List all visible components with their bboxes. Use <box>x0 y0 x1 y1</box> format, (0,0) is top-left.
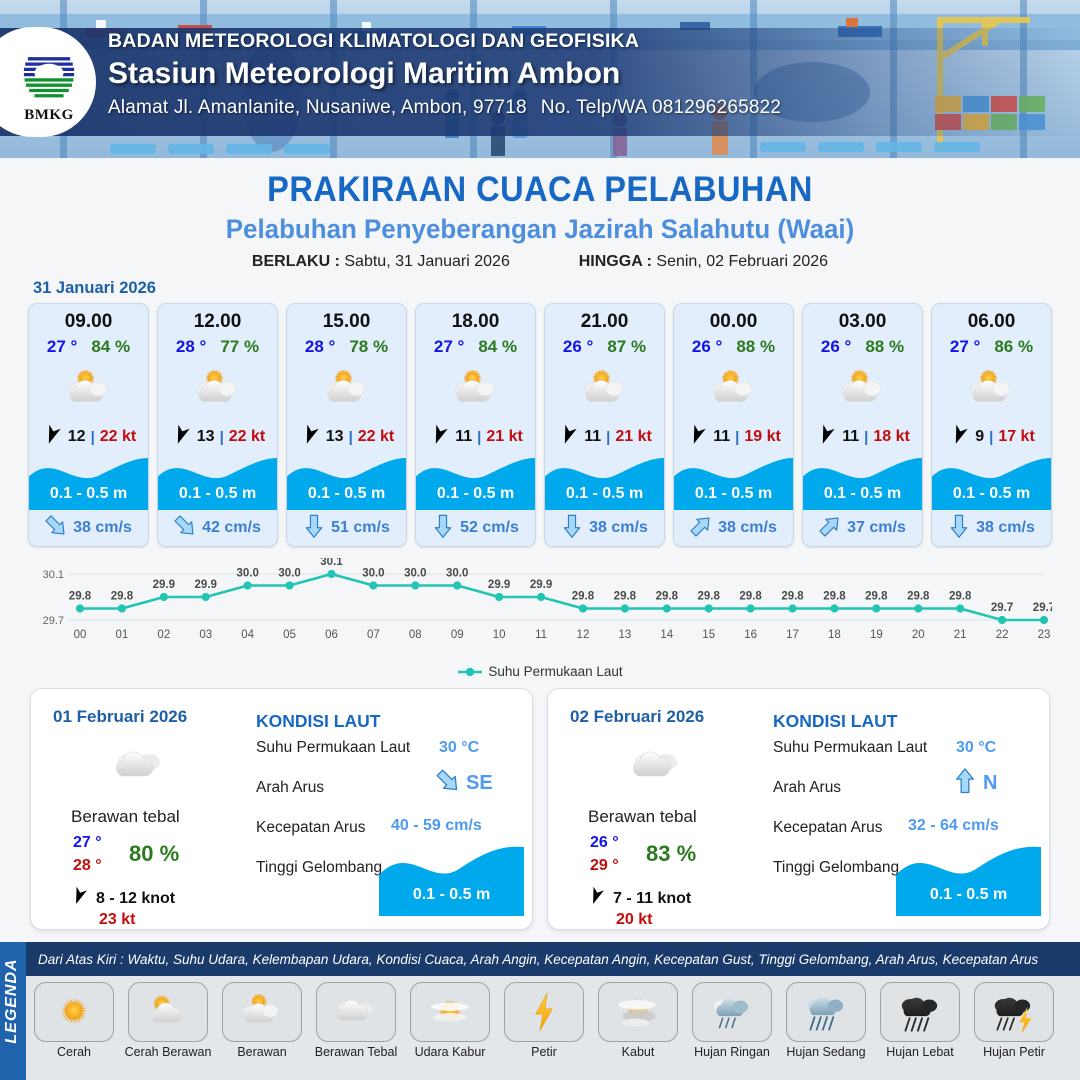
wind-gust: 19 kt <box>744 428 780 446</box>
forecast-temperature: 27 ° <box>434 337 464 357</box>
page-header: BMKG BADAN METEOROLOGI KLIMATOLOGI DAN G… <box>0 0 1080 158</box>
svg-text:30.1: 30.1 <box>320 558 343 568</box>
legend-item: Udara Kabur <box>406 982 494 1059</box>
daily-humidity: 83 % <box>646 841 696 867</box>
wave-height-value: 0.1 - 0.5 m <box>896 886 1041 904</box>
forecast-temperature: 27 ° <box>47 337 77 357</box>
weather-partly-cloudy-icon <box>287 359 406 421</box>
svg-text:19: 19 <box>870 629 883 641</box>
page-title: PRAKIRAAN CUACA PELABUHAN <box>38 170 1042 210</box>
weather-lightning-icon <box>504 982 584 1042</box>
sea-surface-temperature-value: 30 °C <box>439 739 479 757</box>
wind-gust: 22 kt <box>358 428 394 446</box>
weather-moderate-rain-icon <box>786 982 866 1042</box>
wave-height-block: 0.1 - 0.5 m <box>674 452 793 510</box>
svg-text:14: 14 <box>660 629 673 641</box>
current-direction-arrow-icon <box>436 767 460 800</box>
weather-partly-cloudy-icon <box>674 359 793 421</box>
current-direction-value: SE <box>466 772 493 795</box>
legend-item-label: Hujan Lebat <box>876 1045 964 1059</box>
wave-height-block: 0.1 - 0.5 m <box>287 452 406 510</box>
svg-text:13: 13 <box>618 629 631 641</box>
daily-date: 01 Februari 2026 <box>53 707 187 727</box>
svg-text:16: 16 <box>744 629 757 641</box>
forecast-time: 09.00 <box>29 304 148 333</box>
legend-item-label: Hujan Petir <box>970 1045 1058 1059</box>
svg-text:12: 12 <box>577 629 590 641</box>
svg-text:29.7: 29.7 <box>1033 602 1052 614</box>
legend-item: Berawan Tebal <box>312 982 400 1059</box>
forecast-humidity: 88 % <box>865 337 904 357</box>
wave-height-block: 0.1 - 0.5 m <box>29 452 148 510</box>
daily-humidity: 80 % <box>129 841 179 867</box>
svg-text:29.9: 29.9 <box>488 579 510 591</box>
forecast-temperature: 28 ° <box>305 337 335 357</box>
hourly-forecast-row: 09.00 27 ° 84 % <box>28 303 1052 547</box>
svg-text:30.1: 30.1 <box>43 569 64 581</box>
current-direction-arrow-icon <box>948 513 970 544</box>
legend-item: Hujan Sedang <box>782 982 870 1059</box>
legend-item: Cerah <box>30 982 118 1059</box>
svg-text:30.0: 30.0 <box>446 568 468 580</box>
daily-summary-row: 01 Februari 2026 Berawan tebal 27 ° 2 <box>30 688 1050 930</box>
forecast-humidity: 84 % <box>91 337 130 357</box>
weather-fog-icon <box>598 982 678 1042</box>
legend-caption: Dari Atas Kiri : Waktu, Suhu Udara, Kele… <box>26 942 1080 976</box>
forecast-time: 03.00 <box>803 304 922 333</box>
weather-partly-cloudy-icon <box>29 359 148 421</box>
svg-text:29.8: 29.8 <box>698 591 721 603</box>
svg-text:03: 03 <box>199 629 212 641</box>
svg-text:29.8: 29.8 <box>656 591 679 603</box>
svg-text:15: 15 <box>702 629 715 641</box>
forecast-humidity: 88 % <box>736 337 775 357</box>
wave-height: 0.1 - 0.5 m <box>674 485 793 503</box>
wind-direction-arrow-icon <box>815 424 837 451</box>
current-speed: 51 cm/s <box>331 519 390 537</box>
forecast-card: 18.00 27 ° 84 % <box>415 303 536 547</box>
legend-item: Cerah Berawan <box>124 982 212 1059</box>
wind-direction-arrow-icon <box>69 886 89 911</box>
wind-speed: 13 <box>326 428 344 446</box>
weather-partly-cloudy-icon <box>803 359 922 421</box>
wind-separator: | <box>606 429 610 446</box>
svg-text:00: 00 <box>74 629 87 641</box>
legend-item-label: Hujan Ringan <box>688 1045 776 1059</box>
chart-legend: Suhu Permukaan Laut <box>0 664 1080 679</box>
wave-height: 0.1 - 0.5 m <box>287 485 406 503</box>
svg-text:17: 17 <box>786 629 799 641</box>
current-direction-arrow-icon <box>953 767 977 800</box>
station-name: Stasiun Meteorologi Maritim Ambon <box>108 57 781 91</box>
legend-item: Hujan Lebat <box>876 982 964 1059</box>
wave-height: 0.1 - 0.5 m <box>803 485 922 503</box>
station-phone: No. Telp/WA 081296265822 <box>541 97 781 118</box>
current-direction-arrow-icon <box>819 513 841 544</box>
wind-speed: 13 <box>197 428 215 446</box>
wind-separator: | <box>91 429 95 446</box>
wind-speed: 11 <box>713 428 730 446</box>
svg-text:30.0: 30.0 <box>278 568 300 580</box>
weather-partly-cloudy-icon <box>932 359 1051 421</box>
svg-text:06: 06 <box>325 629 338 641</box>
daily-temp-min: 26 ° <box>590 834 619 852</box>
wind-gust: 17 kt <box>998 428 1034 446</box>
weather-sun-icon <box>34 982 114 1042</box>
sea-surface-temperature-value: 30 °C <box>956 739 996 757</box>
daily-summary-card: 02 Februari 2026 Berawan tebal 26 ° 2 <box>547 688 1050 930</box>
legend-item: Berawan <box>218 982 306 1059</box>
wave-height-block: 0.1 - 0.5 m <box>803 452 922 510</box>
svg-text:04: 04 <box>241 629 254 641</box>
svg-text:05: 05 <box>283 629 296 641</box>
forecast-card: 03.00 26 ° 88 % <box>802 303 923 547</box>
bmkg-logo-icon <box>16 40 82 106</box>
legend-item-label: Berawan <box>218 1045 306 1059</box>
weather-partly-cloudy-icon <box>545 359 664 421</box>
wind-speed: 12 <box>68 428 86 446</box>
weather-partly-cloudy-icon <box>158 359 277 421</box>
svg-text:07: 07 <box>367 629 380 641</box>
svg-text:29.8: 29.8 <box>111 591 134 603</box>
legend-item-label: Petir <box>500 1045 588 1059</box>
svg-text:29.9: 29.9 <box>530 579 552 591</box>
wind-direction-arrow-icon <box>428 424 450 451</box>
wind-speed: 9 <box>975 428 984 446</box>
forecast-time: 21.00 <box>545 304 664 333</box>
forecast-card: 09.00 27 ° 84 % <box>28 303 149 547</box>
chart-legend-marker <box>457 666 483 678</box>
current-speed-value: 40 - 59 cm/s <box>391 817 482 835</box>
daily-wind-range: 7 - 11 knot <box>613 890 691 908</box>
wind-speed: 11 <box>842 428 859 446</box>
wind-separator: | <box>989 429 993 446</box>
svg-text:29.8: 29.8 <box>949 591 972 603</box>
current-direction-arrow-icon <box>174 513 196 544</box>
svg-text:29.8: 29.8 <box>614 591 637 603</box>
daily-gust: 20 kt <box>616 911 652 929</box>
legend-side-label: LEGENDA <box>3 951 21 1051</box>
wind-direction-arrow-icon <box>586 886 606 911</box>
svg-text:10: 10 <box>493 629 506 641</box>
forecast-card: 21.00 26 ° 87 % <box>544 303 665 547</box>
daily-wind-range: 8 - 12 knot <box>96 890 175 908</box>
wave-height-block: 0.1 - 0.5 m <box>932 452 1051 510</box>
weather-light-rain-icon <box>692 982 772 1042</box>
forecast-humidity: 77 % <box>220 337 259 357</box>
svg-text:22: 22 <box>996 629 1009 641</box>
legend-bar: LEGENDA Dari Atas Kiri : Waktu, Suhu Uda… <box>0 942 1080 1080</box>
forecast-card: 15.00 28 ° 78 % <box>286 303 407 547</box>
sea-condition-label: Suhu Permukaan Laut <box>256 739 521 757</box>
forecast-time: 15.00 <box>287 304 406 333</box>
weather-partly-cloudy-icon <box>416 359 535 421</box>
legend-item-label: Udara Kabur <box>406 1045 494 1059</box>
legend-item: Kabut <box>594 982 682 1059</box>
berlaku-label: BERLAKU : <box>252 253 340 270</box>
current-direction-arrow-icon <box>45 513 67 544</box>
daily-date: 02 Februari 2026 <box>570 707 704 727</box>
svg-text:29.8: 29.8 <box>781 591 804 603</box>
forecast-time: 18.00 <box>416 304 535 333</box>
forecast-humidity: 84 % <box>478 337 517 357</box>
station-address: Alamat Jl. Amanlanite, Nusaniwe, Ambon, … <box>108 97 527 118</box>
current-direction-value: N <box>983 772 997 795</box>
sea-condition-label: Arah Arus <box>773 779 1038 797</box>
svg-text:23: 23 <box>1038 629 1051 641</box>
wind-speed: 11 <box>455 428 472 446</box>
wind-separator: | <box>349 429 353 446</box>
svg-text:29.8: 29.8 <box>907 591 930 603</box>
bmkg-logo: BMKG <box>0 27 96 137</box>
svg-text:09: 09 <box>451 629 464 641</box>
validity-row: BERLAKU : Sabtu, 31 Januari 2026 HINGGA … <box>0 253 1080 271</box>
forecast-date-label: 31 Januari 2026 <box>33 279 156 298</box>
forecast-card: 12.00 28 ° 77 % <box>157 303 278 547</box>
forecast-time: 06.00 <box>932 304 1051 333</box>
daily-condition: Berawan tebal <box>588 807 697 827</box>
wave-height: 0.1 - 0.5 m <box>545 485 664 503</box>
bmkg-logo-text: BMKG <box>24 107 74 124</box>
current-speed: 38 cm/s <box>718 519 777 537</box>
svg-text:29.8: 29.8 <box>823 591 846 603</box>
weather-cloudy-icon <box>91 737 187 795</box>
svg-text:30.0: 30.0 <box>236 568 258 580</box>
daily-condition: Berawan tebal <box>71 807 180 827</box>
wave-height: 0.1 - 0.5 m <box>158 485 277 503</box>
title-block: PRAKIRAAN CUACA PELABUHAN Pelabuhan Peny… <box>0 158 1080 271</box>
berlaku-value: Sabtu, 31 Januari 2026 <box>344 253 509 270</box>
legend-item: Petir <box>500 982 588 1059</box>
svg-text:29.8: 29.8 <box>572 591 595 603</box>
svg-text:21: 21 <box>954 629 967 641</box>
forecast-humidity: 87 % <box>607 337 646 357</box>
svg-text:29.7: 29.7 <box>991 602 1013 614</box>
weather-sun-cloud-icon <box>128 982 208 1042</box>
daily-temp-min: 27 ° <box>73 834 102 852</box>
sea-condition-title: KONDISI LAUT <box>256 711 380 732</box>
forecast-humidity: 86 % <box>994 337 1033 357</box>
sea-surface-temperature-chart: 30.129.729.80029.80129.90229.90330.00430… <box>28 558 1052 650</box>
legend-item-label: Cerah <box>30 1045 118 1059</box>
current-speed: 37 cm/s <box>847 519 906 537</box>
current-direction-arrow-icon <box>561 513 583 544</box>
weather-cloudy-icon <box>608 737 704 795</box>
forecast-temperature: 26 ° <box>692 337 722 357</box>
wave-height-block: 0.1 - 0.5 m <box>545 452 664 510</box>
daily-summary-card: 01 Februari 2026 Berawan tebal 27 ° 2 <box>30 688 533 930</box>
current-speed: 42 cm/s <box>202 519 261 537</box>
forecast-card: 06.00 27 ° 86 % <box>931 303 1052 547</box>
wave-height-block <box>896 841 1041 916</box>
svg-text:02: 02 <box>157 629 170 641</box>
legend-item-label: Hujan Sedang <box>782 1045 870 1059</box>
page-subtitle: Pelabuhan Penyeberangan Jazirah Salahutu… <box>22 214 1059 245</box>
wind-gust: 21 kt <box>615 428 651 446</box>
wind-direction-arrow-icon <box>686 424 708 451</box>
svg-text:30.0: 30.0 <box>404 568 426 580</box>
svg-text:20: 20 <box>912 629 925 641</box>
svg-text:18: 18 <box>828 629 841 641</box>
wind-direction-arrow-icon <box>41 424 63 451</box>
wave-height: 0.1 - 0.5 m <box>932 485 1051 503</box>
hingga-value: Senin, 02 Februari 2026 <box>656 253 828 270</box>
forecast-temperature: 27 ° <box>950 337 980 357</box>
legend-item-label: Cerah Berawan <box>124 1045 212 1059</box>
hingga-label: HINGGA : <box>579 253 652 270</box>
wind-direction-arrow-icon <box>299 424 321 451</box>
current-direction-arrow-icon <box>690 513 712 544</box>
current-direction-arrow-icon <box>432 513 454 544</box>
wind-gust: 22 kt <box>229 428 265 446</box>
current-speed: 38 cm/s <box>976 519 1035 537</box>
wind-gust: 18 kt <box>873 428 909 446</box>
chart-legend-label: Suhu Permukaan Laut <box>488 664 622 679</box>
svg-text:30.0: 30.0 <box>362 568 384 580</box>
forecast-humidity: 78 % <box>349 337 388 357</box>
svg-text:29.9: 29.9 <box>153 579 175 591</box>
legend-item-label: Kabut <box>594 1045 682 1059</box>
wind-direction-arrow-icon <box>557 424 579 451</box>
wave-height-block <box>379 841 524 916</box>
wind-gust: 21 kt <box>486 428 522 446</box>
forecast-temperature: 26 ° <box>821 337 851 357</box>
legend-side-tab: LEGENDA <box>0 942 26 1080</box>
svg-text:01: 01 <box>116 629 129 641</box>
forecast-card: 00.00 26 ° 88 % <box>673 303 794 547</box>
current-speed-value: 32 - 64 cm/s <box>908 817 999 835</box>
wind-gust: 22 kt <box>100 428 136 446</box>
forecast-time: 00.00 <box>674 304 793 333</box>
current-speed: 38 cm/s <box>73 519 132 537</box>
wave-height-block: 0.1 - 0.5 m <box>416 452 535 510</box>
forecast-temperature: 28 ° <box>176 337 206 357</box>
svg-text:29.8: 29.8 <box>69 591 92 603</box>
current-speed: 52 cm/s <box>460 519 519 537</box>
organization-name: BADAN METEOROLOGI KLIMATOLOGI DAN GEOFIS… <box>108 30 781 53</box>
wind-direction-arrow-icon <box>948 424 970 451</box>
weather-cloudy-icon <box>316 982 396 1042</box>
weather-thunderstorm-icon <box>974 982 1054 1042</box>
daily-gust: 23 kt <box>99 911 135 929</box>
daily-temp-max: 28 ° <box>73 857 102 875</box>
wind-separator: | <box>864 429 868 446</box>
forecast-time: 12.00 <box>158 304 277 333</box>
svg-text:29.7: 29.7 <box>43 615 64 627</box>
forecast-temperature: 26 ° <box>563 337 593 357</box>
svg-text:11: 11 <box>535 629 547 641</box>
legend-item-label: Berawan Tebal <box>312 1045 400 1059</box>
legend-item: Hujan Petir <box>970 982 1058 1059</box>
svg-text:29.8: 29.8 <box>865 591 888 603</box>
weather-haze-icon <box>410 982 490 1042</box>
weather-partly-cloudy-icon <box>222 982 302 1042</box>
svg-text:29.9: 29.9 <box>195 579 217 591</box>
wind-speed: 11 <box>584 428 601 446</box>
current-direction-arrow-icon <box>303 513 325 544</box>
wave-height-value: 0.1 - 0.5 m <box>379 886 524 904</box>
wind-separator: | <box>220 429 224 446</box>
wave-height: 0.1 - 0.5 m <box>416 485 535 503</box>
legend-item: Hujan Ringan <box>688 982 776 1059</box>
wave-height-block: 0.1 - 0.5 m <box>158 452 277 510</box>
daily-temp-max: 29 ° <box>590 857 619 875</box>
weather-heavy-rain-icon <box>880 982 960 1042</box>
wave-height: 0.1 - 0.5 m <box>29 485 148 503</box>
wind-direction-arrow-icon <box>170 424 192 451</box>
current-speed: 38 cm/s <box>589 519 648 537</box>
sea-condition-label: Suhu Permukaan Laut <box>773 739 1038 757</box>
wind-separator: | <box>735 429 739 446</box>
sea-condition-title: KONDISI LAUT <box>773 711 897 732</box>
legend-icon-list: Cerah Cerah Berawan <box>30 982 1076 1059</box>
svg-text:08: 08 <box>409 629 422 641</box>
wind-separator: | <box>477 429 481 446</box>
svg-text:29.8: 29.8 <box>739 591 762 603</box>
